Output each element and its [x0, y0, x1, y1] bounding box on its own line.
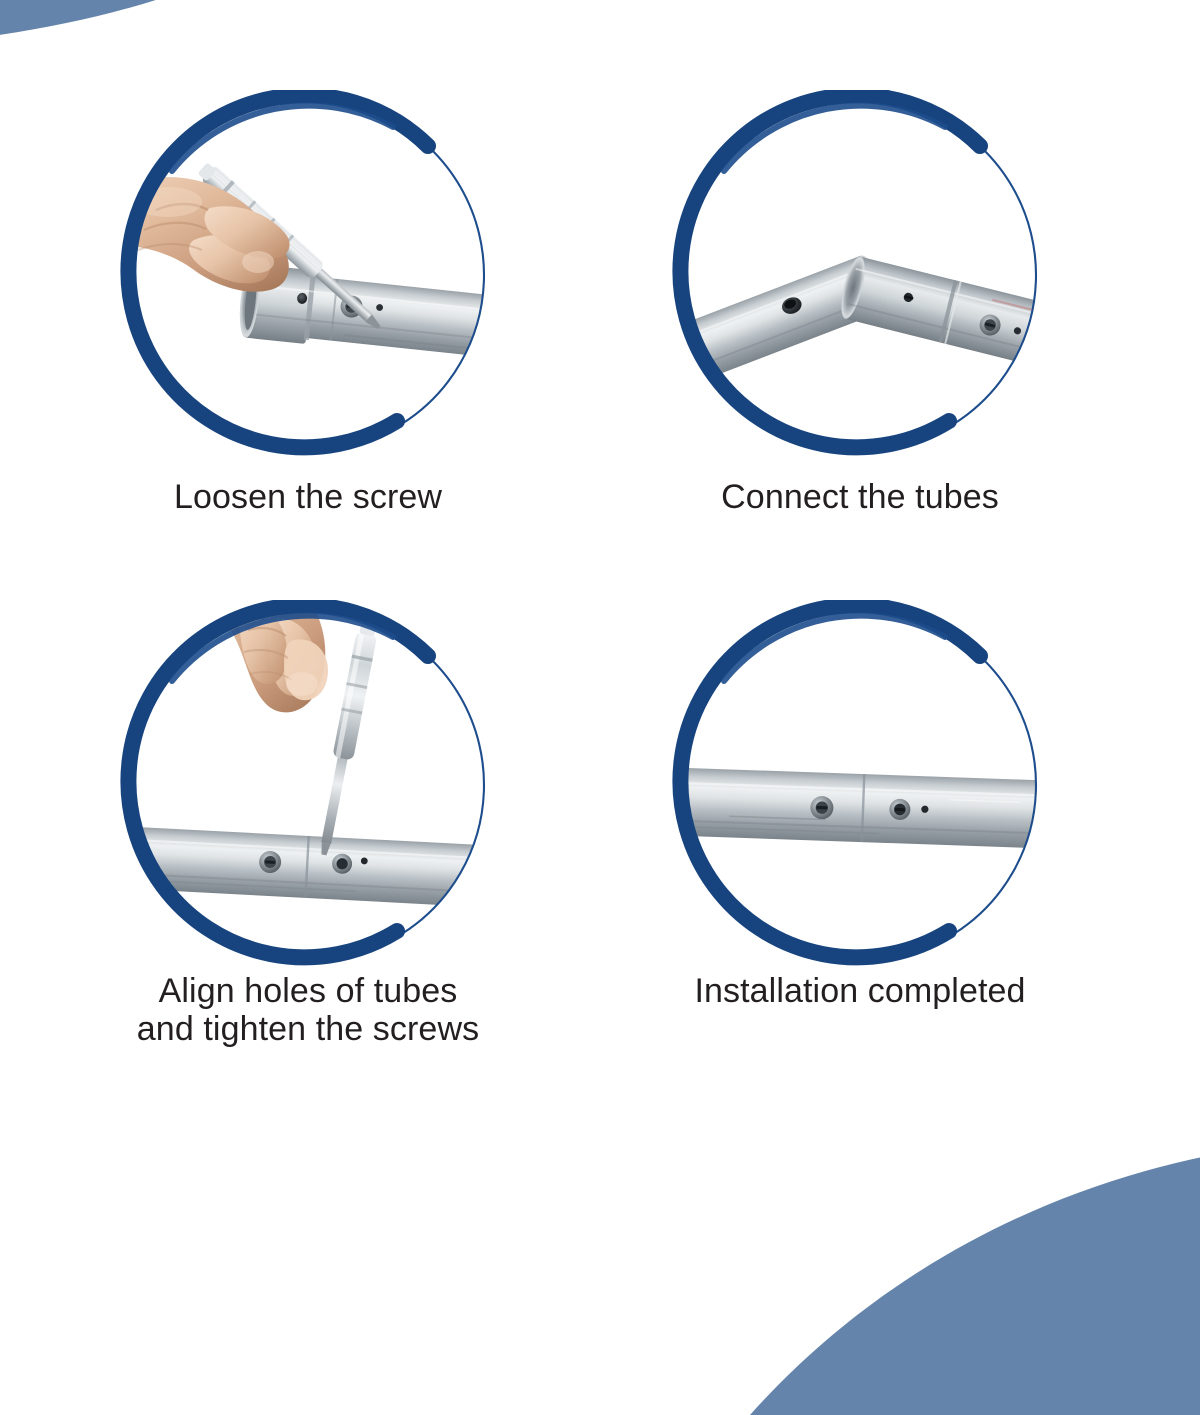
step-2-illustration: [650, 90, 1070, 490]
step-4-caption: Installation completed: [600, 972, 1120, 1010]
step-1-illustration: [98, 90, 518, 490]
step-panel-2: Connect the tubes: [600, 90, 1120, 630]
step-3-illustration: [98, 600, 518, 1000]
loosen-screw-image: [98, 90, 518, 490]
instruction-sheet: Loosen the screw: [0, 0, 1200, 1200]
step-panel-3: Align holes of tubes and tighten the scr…: [48, 600, 568, 1140]
installation-completed-image: [650, 600, 1070, 1000]
align-and-tighten-image: [98, 600, 518, 1000]
step-1-caption: Loosen the screw: [48, 478, 568, 516]
step-panel-4: Installation completed: [600, 600, 1120, 1140]
connect-tubes-image: [650, 90, 1070, 490]
step-4-illustration: [650, 600, 1070, 1000]
step-panel-1: Loosen the screw: [48, 90, 568, 630]
steps-grid: Loosen the screw: [0, 0, 1200, 1200]
step-3-caption: Align holes of tubes and tighten the scr…: [48, 972, 568, 1048]
step-2-caption: Connect the tubes: [600, 478, 1120, 516]
